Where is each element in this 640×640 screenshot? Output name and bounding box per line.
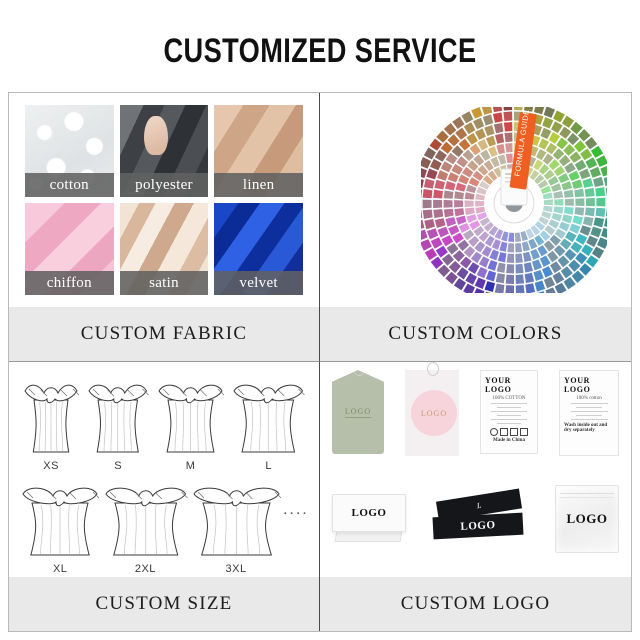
fan-color-chip: [568, 171, 579, 181]
fan-color-chip: [426, 169, 437, 180]
fan-color-chip: [474, 128, 485, 140]
fan-color-chip: [430, 257, 442, 269]
fan-color-chip: [579, 263, 591, 275]
fan-color-chip: [464, 192, 474, 199]
fan-color-chip: [553, 206, 563, 213]
fan-color-chip: [604, 218, 607, 228]
fan-color-chip: [492, 112, 502, 122]
color-swatch-area: FORMULA GUIDE: [320, 93, 631, 307]
fan-color-chip: [499, 242, 507, 252]
fabric-tiles: cotton polyester linen chiffon: [9, 93, 319, 307]
logo-row-top: LOGO LOGO YOUR LOGO 100% COTTON: [332, 370, 619, 470]
size-item[interactable]: 3XL: [190, 483, 283, 575]
fan-color-chip: [579, 225, 590, 236]
fan-color-chip: [443, 123, 455, 135]
fan-color-chip: [532, 259, 542, 270]
customized-service-poster: CUSTOMIZED SERVICE cotton polyester lin: [0, 0, 640, 640]
fan-color-chip: [484, 125, 494, 136]
fan-color-chip: [494, 133, 503, 143]
fan-color-chip: [433, 190, 443, 199]
dress-silhouette: [230, 380, 307, 458]
fan-color-chip: [591, 247, 603, 259]
fan-color-chip: [561, 214, 572, 223]
fabric-label: linen: [214, 173, 303, 197]
fan-color-chip: [497, 154, 505, 164]
fan-color-chip: [561, 181, 572, 190]
fan-color-chip: [494, 284, 504, 293]
fan-color-chip: [492, 107, 502, 112]
fan-color-chip: [505, 143, 513, 153]
fan-color-chip: [561, 116, 573, 128]
fan-color-chip: [574, 189, 584, 198]
box-lid: LOGO: [332, 494, 406, 532]
size-label: 3XL: [226, 563, 247, 575]
fan-color-chip: [464, 208, 474, 216]
fabric-label: chiffon: [25, 271, 114, 295]
fabric-label: velvet: [214, 271, 303, 295]
bag-logo-text: LOGO: [566, 511, 607, 527]
ribbon-script-text: L: [476, 500, 482, 510]
fan-color-chip: [437, 265, 449, 277]
care-label-heading: YOUR LOGO: [564, 376, 614, 394]
fan-color-chip: [515, 285, 524, 293]
fan-color-chip: [421, 157, 431, 169]
fan-color-chip: [515, 274, 524, 284]
fan-color-chip: [582, 216, 593, 226]
fan-color-chip: [484, 281, 494, 292]
fan-color-chip: [590, 146, 602, 158]
fan-color-chip: [507, 243, 514, 252]
fan-color-chip: [593, 217, 604, 227]
fan-color-chip: [435, 246, 447, 258]
fabric-tile[interactable]: satin: [120, 203, 209, 295]
fan-color-chip: [447, 172, 458, 182]
fan-color-chip: [497, 252, 506, 262]
box-logo-text: LOGO: [351, 507, 386, 519]
fan-color-chip: [433, 200, 442, 208]
logo-poly-bag[interactable]: LOGO: [555, 485, 619, 553]
fan-color-chip: [424, 248, 436, 260]
size-item[interactable]: L: [230, 380, 307, 472]
fan-color-chip: [482, 114, 493, 125]
fan-color-chip: [597, 237, 607, 249]
fan-color-chip: [543, 277, 554, 289]
size-item[interactable]: 2XL: [102, 483, 190, 575]
dress-silhouette: [155, 380, 226, 458]
fabric-tile[interactable]: polyester: [120, 105, 209, 197]
fan-color-chip: [571, 271, 583, 283]
fan-color-chip: [554, 199, 563, 206]
fan-color-chip: [503, 122, 512, 132]
fan-color-chip: [454, 191, 464, 199]
care-label-front[interactable]: YOUR LOGO 100% COTTON Made in China: [480, 370, 538, 454]
dress-silhouette: [19, 483, 101, 561]
section-custom-size: XSSML XL2XL3XL.... CUSTOM SIZE: [9, 362, 320, 631]
fan-color-chip: [575, 234, 587, 245]
fan-color-chip: [606, 208, 607, 218]
fan-color-chip: [504, 133, 512, 143]
fabric-label: satin: [120, 271, 209, 295]
fan-color-chip: [502, 107, 511, 111]
fan-color-chip: [476, 267, 487, 278]
fan-color-chip: [589, 167, 600, 178]
fan-color-chip: [421, 178, 424, 188]
fan-color-chip: [542, 117, 553, 128]
fan-color-chip: [421, 220, 424, 230]
logo-samples-area: LOGO LOGO YOUR LOGO 100% COTTON: [320, 362, 631, 577]
fan-color-chip: [585, 198, 594, 206]
fan-color-chip: [575, 198, 584, 206]
fan-color-chip: [472, 118, 483, 130]
fan-color-chip: [533, 270, 543, 281]
care-label-sub: 100% cotton: [576, 396, 601, 401]
fan-color-chip: [452, 117, 464, 129]
fan-color-chip: [580, 148, 592, 160]
fan-color-chip: [603, 176, 606, 186]
fan-color-chip: [444, 181, 455, 190]
fan-color-chip: [487, 260, 497, 271]
fan-color-chip: [543, 199, 552, 205]
fan-color-chip: [595, 208, 605, 217]
fan-color-chip: [421, 239, 432, 251]
fan-color-chip: [586, 236, 598, 247]
fan-color-chip: [553, 191, 563, 199]
fan-color-chip: [572, 216, 583, 225]
fan-color-chip: [481, 107, 492, 115]
size-item[interactable]: S: [85, 380, 151, 472]
fan-color-chip: [521, 241, 529, 251]
hang-tag-sage[interactable]: LOGO: [332, 370, 384, 454]
size-chart-area: XSSML XL2XL3XL....: [9, 362, 319, 577]
fan-color-chip: [489, 250, 499, 261]
fan-color-chip: [574, 207, 584, 215]
fan-color-chip: [515, 253, 523, 263]
fan-color-chip: [553, 110, 565, 122]
fan-color-chip: [582, 178, 593, 188]
size-item[interactable]: M: [155, 380, 226, 472]
fan-color-chip: [485, 136, 495, 147]
fan-color-chip: [434, 218, 445, 228]
fan-color-chip: [471, 107, 482, 119]
size-label: 2XL: [135, 563, 156, 575]
fan-color-chip: [523, 262, 532, 272]
fabric-tile[interactable]: chiffon: [25, 203, 114, 295]
fan-color-chip: [563, 190, 573, 198]
size-label: L: [265, 460, 272, 472]
fan-color-chip: [590, 227, 601, 238]
fan-color-chip: [496, 263, 505, 273]
fan-color-chip: [430, 237, 442, 248]
fan-color-chip: [508, 233, 514, 242]
fan-color-chip: [596, 198, 605, 207]
size-label: S: [114, 460, 122, 472]
care-label-footer: Made in China: [493, 438, 525, 443]
fan-color-chip: [585, 208, 595, 217]
fan-color-chip: [540, 128, 551, 139]
fabric-tile[interactable]: velvet: [214, 203, 303, 295]
care-label-footer: Wash inside out and dry separately: [564, 423, 614, 433]
fan-color-chip: [461, 111, 473, 123]
fan-color-chip: [465, 273, 477, 285]
fan-color-chip: [421, 167, 427, 178]
dress-silhouette: [190, 483, 283, 561]
fan-color-chip: [579, 169, 590, 180]
fan-color-chip: [600, 165, 607, 176]
fan-color-chip: [453, 278, 465, 290]
fan-color-chip: [496, 144, 505, 154]
fan-color-chip: [421, 210, 422, 220]
fan-color-chip: [551, 121, 563, 133]
fan-color-chip: [445, 217, 456, 227]
fan-color-chip: [443, 209, 453, 218]
ribbon-lower: LOGO: [432, 513, 523, 540]
fabric-tile[interactable]: linen: [214, 105, 303, 197]
fan-color-chip: [593, 177, 604, 187]
fan-color-chip: [475, 201, 484, 207]
size-item[interactable]: XS: [21, 380, 81, 472]
fabric-label: polyester: [120, 173, 209, 197]
care-label-heading: YOUR LOGO: [485, 376, 533, 394]
size-row-top: XSSML: [19, 368, 309, 472]
fan-color-chip: [506, 254, 513, 263]
fan-color-chip: [443, 200, 452, 208]
hang-tag-pink[interactable]: LOGO: [405, 370, 459, 456]
fan-color-chip: [464, 200, 473, 207]
dress-silhouette: [102, 483, 190, 561]
fan-color-chip: [475, 207, 485, 214]
section-custom-logo: LOGO LOGO YOUR LOGO 100% COTTON: [320, 362, 631, 631]
fan-color-chip: [506, 264, 514, 273]
fan-color-chip: [434, 180, 445, 190]
fan-color-chip: [448, 225, 459, 235]
fan-color-chip: [493, 123, 503, 133]
fan-color-chip: [595, 187, 605, 196]
fan-color-chip: [424, 219, 435, 229]
size-label: M: [186, 460, 196, 472]
care-label-back[interactable]: YOUR LOGO 100% cotton Wash inside out an…: [559, 370, 619, 456]
round-tag: LOGO: [411, 390, 457, 436]
logo-row-bottom: LOGO L LOGO: [332, 470, 619, 570]
fan-color-chip: [563, 277, 575, 289]
fan-color-chip: [436, 130, 448, 142]
fan-color-chip: [495, 273, 504, 283]
fan-color-chip: [534, 281, 545, 292]
fan-color-chip: [433, 209, 443, 218]
fan-color-chip: [522, 252, 531, 262]
fan-color-chip: [475, 194, 485, 201]
logo-gift-box[interactable]: LOGO: [332, 494, 406, 544]
fan-color-chip: [570, 122, 582, 134]
tag-string-icon: [427, 362, 439, 376]
fan-color-chip: [485, 271, 495, 282]
fan-color-chip: [586, 255, 598, 267]
fan-color-chip: [564, 199, 573, 206]
care-label-sub: 100% COTTON: [492, 396, 525, 401]
section-custom-fabric: cotton polyester linen chiffon: [9, 93, 320, 362]
fan-color-chip: [525, 283, 535, 293]
section-custom-colors: FORMULA GUIDE CUSTOM COLORS: [320, 93, 631, 362]
section-caption-colors: CUSTOM COLORS: [320, 307, 631, 361]
fan-color-chip: [421, 230, 428, 241]
fan-color-chip: [533, 107, 544, 114]
fan-color-chip: [564, 207, 574, 215]
fan-color-chip: [543, 206, 553, 213]
bag-zip-icon: [560, 493, 614, 498]
section-caption-logo: CUSTOM LOGO: [320, 577, 631, 631]
fan-color-chip: [601, 228, 607, 239]
fan-color-chip: [605, 186, 606, 196]
fan-color-chip: [543, 107, 554, 118]
fan-color-chip: [569, 224, 580, 234]
fan-color-chip: [423, 147, 435, 159]
fan-color-chip: [577, 129, 589, 141]
fan-color-chip: [514, 232, 520, 241]
fan-color-chip: [429, 159, 441, 170]
fan-color-chip: [429, 138, 441, 150]
tag-logo-text: LOGO: [345, 407, 371, 418]
fan-color-chip: [454, 200, 463, 207]
fan-color-chip: [443, 190, 453, 198]
fan-color-chip: [421, 188, 422, 198]
pantone-fan-deck[interactable]: FORMULA GUIDE: [421, 107, 607, 293]
dress-silhouette: [85, 380, 151, 458]
fan-color-chip: [505, 275, 513, 284]
fan-color-chip: [552, 272, 564, 284]
section-caption-fabric: CUSTOM FABRIC: [9, 307, 319, 361]
size-more-indicator: ....: [283, 501, 309, 545]
service-grid: cotton polyester linen chiffon: [8, 92, 632, 632]
fan-color-chip: [581, 244, 593, 256]
fan-color-chip: [422, 200, 431, 209]
fan-color-chip: [455, 183, 466, 192]
fan-color-chip: [474, 277, 485, 288]
fan-color-chip: [524, 273, 534, 283]
fan-color-chip: [426, 228, 437, 239]
fan-color-chip: [463, 284, 475, 293]
fan-color-chip: [584, 188, 594, 197]
fan-color-chip: [585, 157, 597, 168]
page-title: CUSTOMIZED SERVICE: [64, 32, 576, 71]
size-label: XL: [53, 563, 67, 575]
tag-logo-text: LOGO: [421, 409, 447, 418]
fan-color-chip: [596, 155, 607, 167]
fan-color-chip: [584, 137, 596, 149]
size-item[interactable]: XL: [19, 483, 101, 575]
fan-color-chip: [437, 227, 448, 238]
size-row-bottom: XL2XL3XL....: [19, 472, 309, 576]
fan-color-chip: [422, 189, 432, 198]
logo-ribbon-labels[interactable]: L LOGO: [433, 491, 529, 547]
fan-color-chip: [542, 266, 553, 278]
fan-color-chip: [505, 285, 514, 293]
fan-color-chip: [440, 161, 452, 172]
fan-color-chip: [515, 243, 522, 253]
fan-color-chip: [505, 154, 512, 164]
size-label: XS: [43, 460, 59, 472]
fan-color-chip: [445, 272, 457, 284]
fan-color-chip: [436, 170, 447, 181]
fan-color-chip: [542, 192, 552, 199]
fabric-tile[interactable]: cotton: [25, 105, 114, 197]
fan-color-chip: [463, 122, 475, 134]
tag-string-icon: [353, 362, 365, 376]
fan-color-chip: [422, 210, 432, 219]
care-symbol-icons: [490, 428, 528, 436]
ribbon-logo-text: LOGO: [460, 519, 496, 533]
fan-color-chip: [423, 179, 434, 189]
fan-color-chip: [515, 264, 523, 274]
fan-color-chip: [571, 179, 582, 189]
fan-color-chip: [455, 216, 466, 225]
fan-color-chip: [434, 150, 446, 162]
fan-color-chip: [503, 112, 512, 122]
section-caption-size: CUSTOM SIZE: [9, 577, 319, 631]
dress-silhouette: [21, 380, 81, 458]
fan-color-chip: [554, 283, 566, 293]
fabric-label: cotton: [25, 173, 114, 197]
fan-color-chip: [454, 208, 464, 216]
